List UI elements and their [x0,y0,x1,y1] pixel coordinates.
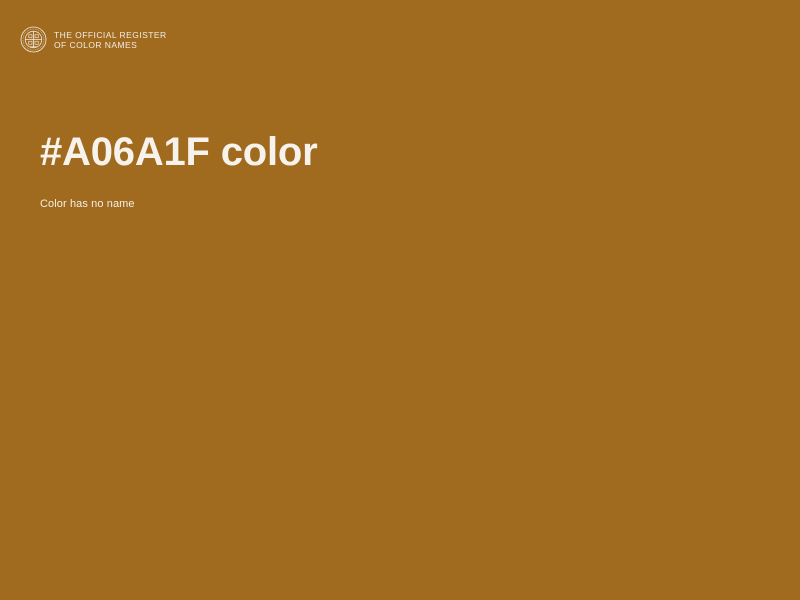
page-title: #A06A1F color [40,128,740,176]
official-register-seal-icon [20,26,47,53]
brand-lockup[interactable]: THE OFFICIAL REGISTER OF COLOR NAMES [20,26,167,53]
color-name-status: Color has no name [40,197,740,212]
brand-line-primary: THE OFFICIAL REGISTER [54,30,167,41]
brand-line-secondary: OF COLOR NAMES [54,40,167,51]
brand-wordmark: THE OFFICIAL REGISTER OF COLOR NAMES [54,29,167,51]
color-info-block: #A06A1F color Color has no name [40,128,740,212]
color-page-background: { "page": { "background_color": "#A06A1F… [0,0,800,600]
